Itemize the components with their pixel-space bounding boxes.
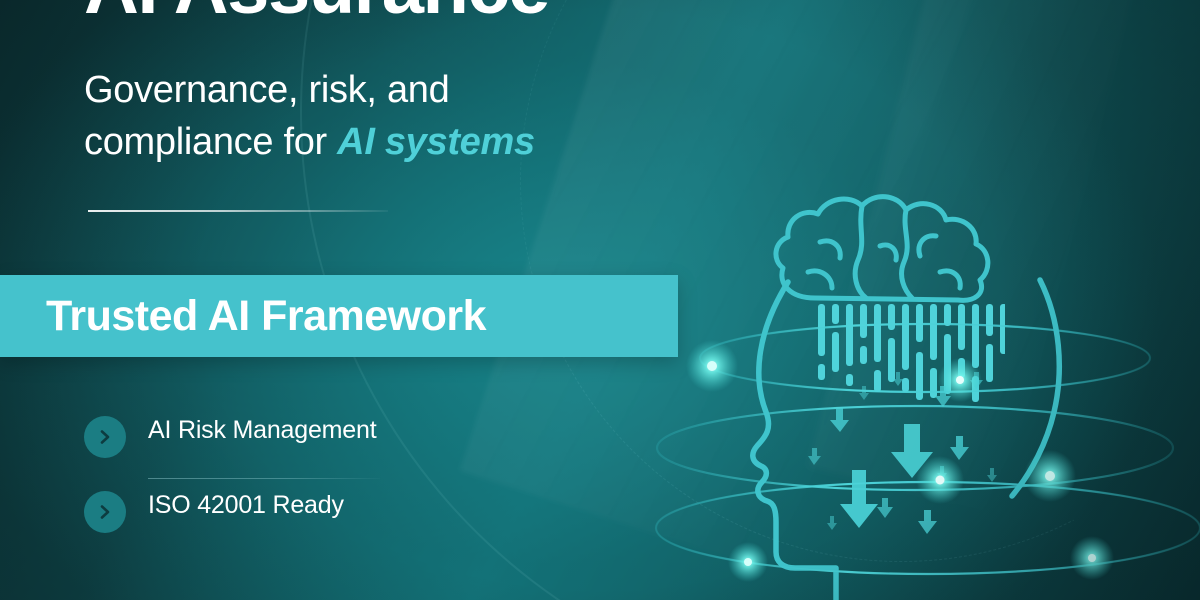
feature-list: AI Risk Management ISO 42001 Ready: [84, 404, 414, 553]
feature-label: AI Risk Management: [148, 404, 376, 446]
subheadline-line-1: Governance, risk, and: [84, 69, 449, 111]
ai-assurance-banner: AI Assurance Governance, risk, and compl…: [0, 0, 1200, 600]
divider-rule: [88, 210, 388, 212]
subheadline: Governance, risk, and compliance for AI …: [84, 64, 694, 168]
badge-label: Trusted AI Framework: [46, 295, 486, 338]
chevron-right-icon[interactable]: [84, 491, 126, 533]
list-item[interactable]: AI Risk Management: [84, 404, 414, 478]
list-item[interactable]: ISO 42001 Ready: [84, 479, 414, 553]
page-title: AI Assurance: [84, 0, 549, 26]
trusted-ai-framework-badge: Trusted AI Framework: [0, 275, 678, 357]
chevron-right-icon[interactable]: [84, 416, 126, 458]
feature-label: ISO 42001 Ready: [148, 479, 344, 521]
subheadline-line-2-prefix: compliance for: [84, 121, 337, 163]
subheadline-accent: AI systems: [337, 121, 535, 163]
